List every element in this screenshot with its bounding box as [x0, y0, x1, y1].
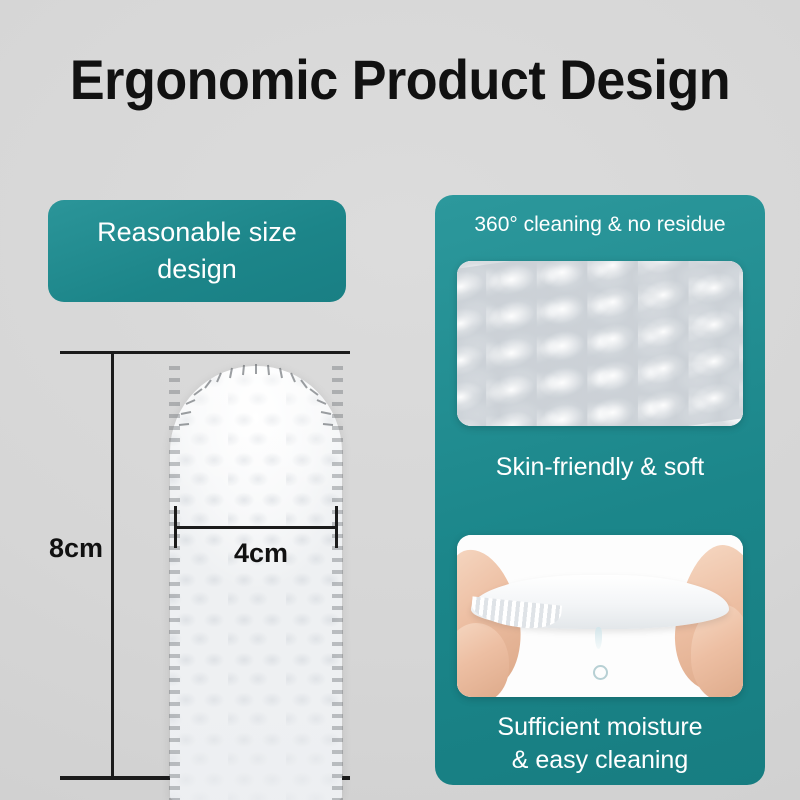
infographic-stage: Ergonomic Product Design Reasonable size…: [0, 0, 800, 800]
measure-vertical-line: [111, 351, 114, 779]
reasonable-size-caption-text: Reasonable size design: [66, 214, 328, 288]
water-drip: [595, 627, 602, 649]
product-image: [170, 366, 342, 800]
feature-caption-line1: Sufficient moisture: [435, 711, 765, 744]
width-label: 4cm: [234, 538, 288, 569]
features-panel: 360° cleaning & no residue Skin-friendly…: [435, 195, 765, 785]
feature-caption-sufficient-moisture: Sufficient moisture & easy cleaning: [435, 711, 765, 777]
hands-stretching-wipe-photo: [457, 535, 743, 697]
feature-header-360-cleaning: 360° cleaning & no residue: [435, 211, 765, 239]
water-droplet-icon: [593, 665, 608, 680]
quilted-texture: [457, 261, 743, 426]
height-label: 8cm: [45, 531, 107, 566]
hands-scene: [457, 535, 743, 697]
measure-top-line: [60, 351, 350, 354]
feature-caption-line2: & easy cleaning: [435, 744, 765, 777]
feature-caption-skin-friendly: Skin-friendly & soft: [435, 451, 765, 483]
product-serrated-crown: [166, 362, 346, 482]
page-title: Ergonomic Product Design: [28, 48, 772, 112]
measure-width-line: [174, 526, 338, 529]
reasonable-size-caption: Reasonable size design: [48, 200, 346, 302]
quilted-fabric-macro-photo: [457, 261, 743, 426]
